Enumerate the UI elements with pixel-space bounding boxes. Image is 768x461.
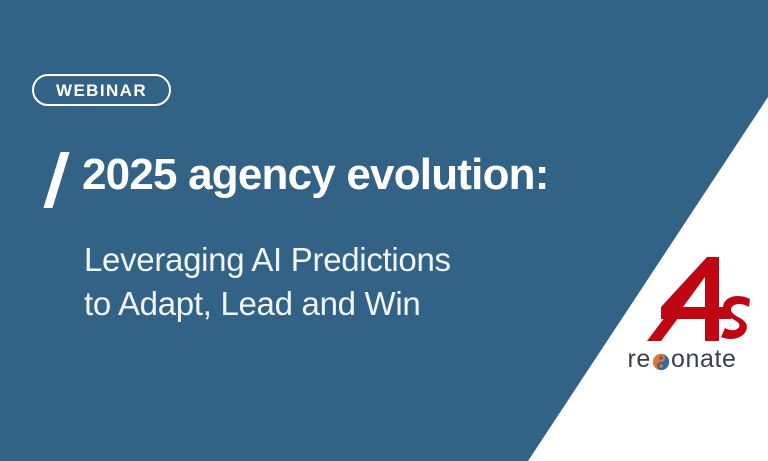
subtitle-line-2: to Adapt, Lead and Win xyxy=(84,282,451,326)
webinar-badge-label: WEBINAR xyxy=(56,82,147,99)
resonate-swirl-icon xyxy=(652,351,670,369)
webinar-badge: WEBINAR xyxy=(32,74,171,106)
slash-mark-icon xyxy=(44,154,78,208)
subtitle: Leveraging AI Predictions to Adapt, Lead… xyxy=(84,238,451,325)
headline-row: 2025 agency evolution: xyxy=(44,152,549,208)
diagonal-wedge xyxy=(0,0,768,461)
resonate-wordmark-prefix: re xyxy=(628,347,651,372)
webinar-promo-banner: WEBINAR 2025 agency evolution: Leveragin… xyxy=(0,0,768,461)
logo-lockup: re onate xyxy=(607,255,757,373)
page-title: 2025 agency evolution: xyxy=(82,152,549,198)
subtitle-line-1: Leveraging AI Predictions xyxy=(84,238,451,282)
resonate-wordmark-suffix: onate xyxy=(671,347,737,372)
resonate-wordmark: re onate xyxy=(607,345,757,373)
4as-logo-mark-icon xyxy=(645,255,757,343)
